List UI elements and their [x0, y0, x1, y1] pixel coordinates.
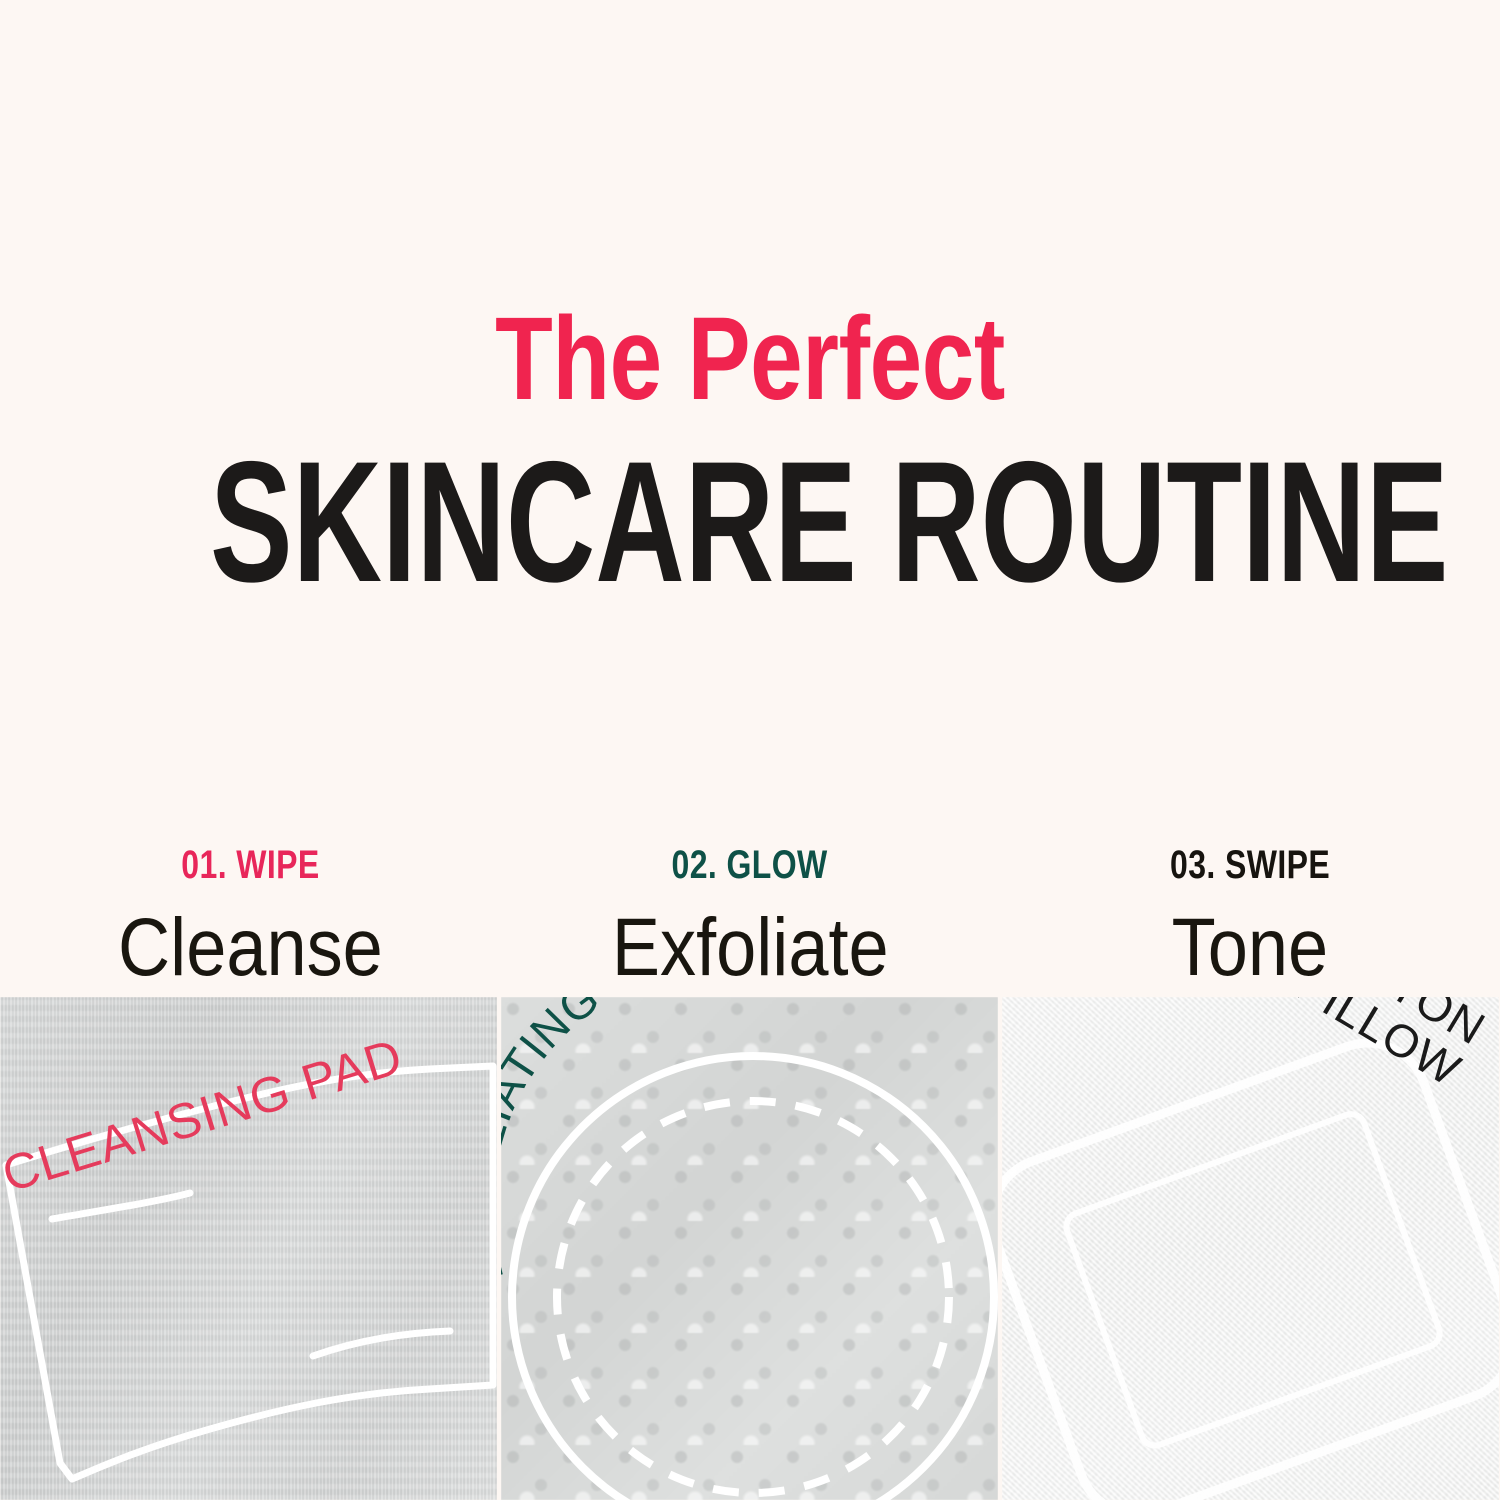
- cotton-pillow-outline-icon: [1002, 997, 1499, 1500]
- exfoliating-round-outline-icon: EXFOLIATING ROUND: [501, 997, 998, 1500]
- product-panel-exfoliating-round: EXFOLIATING ROUND: [501, 997, 998, 1500]
- step-kicker-02: 02. GLOW: [672, 845, 828, 885]
- poster-root: The Perfect SKINCARE ROUTINE 01. WIPE Cl…: [0, 0, 1500, 1500]
- product-label-exfoliating-round: EXFOLIATING ROUND: [501, 997, 789, 1288]
- header-eyebrow: The Perfect: [150, 300, 1350, 418]
- cleansing-pad-outline-icon: [0, 997, 497, 1500]
- page-title: SKINCARE ROUTINE: [210, 436, 1290, 608]
- steps-row: 01. WIPE Cleanse 02. GLOW Exfoliate 03. …: [0, 845, 1500, 989]
- product-panel-cleansing-pad: CLEANSING PAD: [0, 997, 497, 1500]
- step-item-cleanse: 01. WIPE Cleanse: [0, 845, 500, 989]
- product-panel-cotton-pillow: COTTON PILLOW: [1002, 997, 1499, 1500]
- step-kicker-01: 01. WIPE: [181, 845, 319, 885]
- step-title-tone: Tone: [1172, 907, 1328, 989]
- step-kicker-03: 03. SWIPE: [1170, 845, 1330, 885]
- poster-header: The Perfect SKINCARE ROUTINE: [0, 300, 1500, 608]
- step-item-tone: 03. SWIPE Tone: [1000, 845, 1500, 989]
- step-title-exfoliate: Exfoliate: [612, 907, 889, 989]
- product-photo-strip: CLEANSING PAD EXFOLIATING ROUND: [0, 997, 1500, 1500]
- step-item-exfoliate: 02. GLOW Exfoliate: [500, 845, 1000, 989]
- step-title-cleanse: Cleanse: [118, 907, 383, 989]
